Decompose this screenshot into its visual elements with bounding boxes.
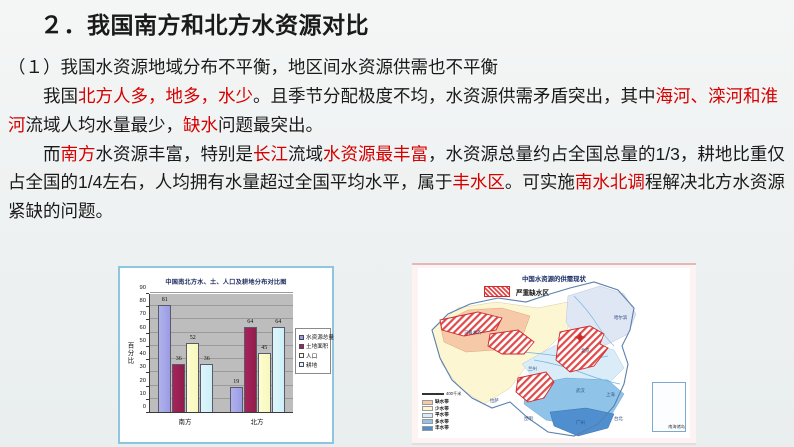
y-tick-40: 40 (126, 351, 146, 357)
para-2-run-2: 。且季节分配极度不均，水资源供需矛盾突出，其中 (253, 86, 656, 106)
y-tickmark-80 (146, 306, 149, 307)
y-tickmark-60 (146, 333, 149, 334)
y-tick-20: 20 (126, 378, 146, 384)
chart-area: 百分比 8136523619644564 0102030405060708090… (123, 290, 331, 440)
legend-swatch-icon (299, 362, 304, 367)
y-tickmark-20 (146, 386, 149, 387)
y-tick-10: 10 (126, 391, 146, 397)
chart-bars: 8136523619644564 (150, 294, 293, 412)
y-tick-30: 30 (126, 364, 146, 370)
y-tick-50: 50 (126, 338, 146, 344)
map-place-label-0: 乌鲁木齐 (464, 330, 482, 336)
para-2-run-6: 问题最突出。 (218, 115, 323, 135)
para-3-run-0: 而 (43, 144, 61, 164)
gridline-90 (150, 292, 293, 293)
para-3-run-5: 水资源最丰富 (323, 144, 428, 164)
bar-北方-人口: 45 (258, 353, 271, 413)
legend-item-1: 土地面积 (299, 342, 327, 350)
page-title: ２．我国南方和北方水资源对比 (40, 6, 369, 40)
bar-value-label: 19 (233, 379, 239, 385)
map-legend-swatch-icon (422, 406, 433, 411)
map-legend-swatch-icon (422, 400, 433, 405)
bar-value-label: 45 (261, 345, 267, 351)
legend-label: 水资源总量 (306, 333, 334, 341)
para-3-run-3: 长江 (253, 144, 288, 164)
y-tickmark-50 (146, 346, 149, 347)
para-3-run-8: 。可实施 (505, 172, 575, 192)
map-legend-label: 多水带 (435, 419, 449, 425)
map-legend: 400千米 缺水带少水带平水带多水带丰水带 (422, 391, 466, 432)
chart-plot-wrapper: 8136523619644564 0102030405060708090 (149, 294, 293, 413)
chart-plot: 8136523619644564 (149, 294, 293, 413)
bar-value-label: 64 (275, 319, 281, 325)
map-legend-label: 缺水带 (435, 399, 449, 405)
y-tick-70: 70 (126, 311, 146, 317)
map-place-label-1: 哈尔滨 (614, 315, 627, 321)
bar-南方-人口: 52 (186, 343, 199, 412)
chart-x-ticks: 南方北方 (149, 416, 293, 426)
para-1-run-0: （１）我国水资源地域分布不平衡，地区间水资源供需也不平衡 (8, 57, 498, 77)
y-tickmark-30 (146, 372, 149, 373)
china-water-map-figure: 中国水资源的供需现状 严重缺水区 (412, 263, 696, 445)
map-place-label-3: 兰州 (528, 366, 537, 372)
figures-row: 中国南北方水、土、人口及耕地分布对比图 百分比 8136523619644564… (0, 258, 794, 447)
slide-root: ２．我国南方和北方水资源对比 （１）我国水资源地域分布不平衡，地区间水资源供需也… (0, 0, 794, 447)
map-legend-item-4: 丰水带 (422, 425, 466, 431)
map-legend-item-1: 少水带 (422, 406, 466, 412)
map-place-label-5: 武汉 (576, 388, 585, 394)
legend-item-3: 耕地 (299, 361, 327, 369)
para-2: 我国北方人多，地多，水少。且季节分配极度不均，水资源供需矛盾突出，其中海河、滦河… (8, 82, 790, 139)
para-2-run-1: 北方人多，地多，水少 (78, 86, 253, 106)
bar-group-0: 81365236 (150, 294, 222, 412)
inset-label: 南海诸岛 (668, 424, 685, 430)
y-tick-80: 80 (126, 298, 146, 304)
map-place-label-7: 昆明 (524, 416, 533, 422)
legend-item-0: 水资源总量 (299, 333, 327, 341)
map-legend-swatch-icon (422, 413, 433, 418)
y-tickmark-0 (146, 412, 149, 413)
para-3-run-1: 南方 (61, 144, 96, 164)
y-tick-0: 0 (126, 404, 146, 410)
legend-swatch-icon (299, 353, 304, 358)
map-place-label-6: 拉萨 (490, 398, 499, 404)
scale-bar-line (422, 393, 444, 395)
bar-南方-水资源总量: 81 (158, 305, 171, 412)
bar-value-label: 36 (176, 356, 182, 362)
body-text: （１）我国水资源地域分布不平衡，地区间水资源供需也不平衡我国北方人多，地多，水少… (8, 53, 790, 226)
map-legend-item-0: 缺水带 (422, 399, 466, 405)
para-3-run-4: 流域 (288, 144, 323, 164)
map-place-label-8: 广州 (576, 420, 585, 426)
chart-legend: 水资源总量土地面积人口耕地 (295, 328, 331, 374)
map-legend-swatch-icon (422, 419, 433, 424)
bar-chart-figure: 中国南北方水、土、人口及耕地分布对比图 百分比 8136523619644564… (118, 266, 334, 444)
para-2-run-4: 流域人均水量最少， (26, 115, 184, 135)
para-3: 而南方水资源丰富，特别是长江流域水资源最丰富，水资源总量约占全国总量的1/3，耕… (8, 140, 790, 225)
map-place-label-4: 上海 (606, 392, 615, 398)
bar-value-label: 52 (190, 335, 196, 341)
map-legend-label: 丰水带 (435, 425, 449, 431)
y-tick-90: 90 (126, 285, 146, 291)
bar-北方-耕地: 64 (272, 327, 285, 412)
y-tickmark-10 (146, 399, 149, 400)
para-3-run-9: 南水北调 (575, 172, 645, 192)
map-inner: 中国水资源的供需现状 严重缺水区 (418, 268, 690, 438)
para-1: （１）我国水资源地域分布不平衡，地区间水资源供需也不平衡 (8, 53, 790, 81)
bar-value-label: 81 (162, 297, 168, 303)
map-legend-item-3: 多水带 (422, 419, 466, 425)
y-tickmark-70 (146, 319, 149, 320)
map-place-label-2: 北京 (581, 348, 590, 354)
y-tickmark-40 (146, 359, 149, 360)
para-3-run-2: 水资源丰富，特别是 (96, 144, 254, 164)
bar-value-label: 64 (247, 319, 253, 325)
map-legend-label: 平水带 (435, 412, 449, 418)
y-tickmark-90 (146, 293, 149, 294)
map-legend-swatch-icon (422, 426, 433, 431)
x-tick-0: 南方 (149, 416, 221, 426)
x-tick-1: 北方 (221, 416, 293, 426)
para-2-run-5: 缺水 (183, 115, 218, 135)
chart-title: 中国南北方水、土、人口及耕地分布对比图 (123, 277, 329, 286)
bar-北方-土地面积: 64 (244, 327, 257, 412)
map-legend-label: 少水带 (435, 406, 449, 412)
para-3-run-7: 丰水区 (452, 172, 505, 192)
bar-南方-土地面积: 36 (172, 364, 185, 412)
bar-南方-耕地: 36 (200, 364, 213, 412)
bar-北方-水资源总量: 19 (230, 387, 243, 412)
legend-swatch-icon (299, 335, 304, 340)
legend-label: 人口 (306, 352, 317, 360)
map-scale-bar: 400千米 (422, 391, 466, 397)
bar-group-1: 19644564 (222, 294, 294, 412)
para-2-run-0: 我国 (43, 86, 78, 106)
y-tick-60: 60 (126, 325, 146, 331)
legend-label: 耕地 (306, 361, 317, 369)
bar-value-label: 36 (204, 356, 210, 362)
legend-label: 土地面积 (306, 342, 328, 350)
map-legend-item-2: 平水带 (422, 412, 466, 418)
legend-swatch-icon (299, 344, 304, 349)
scale-bar-label: 400千米 (446, 391, 461, 397)
map-place-label-9: 台北 (614, 416, 623, 422)
legend-item-2: 人口 (299, 352, 327, 360)
